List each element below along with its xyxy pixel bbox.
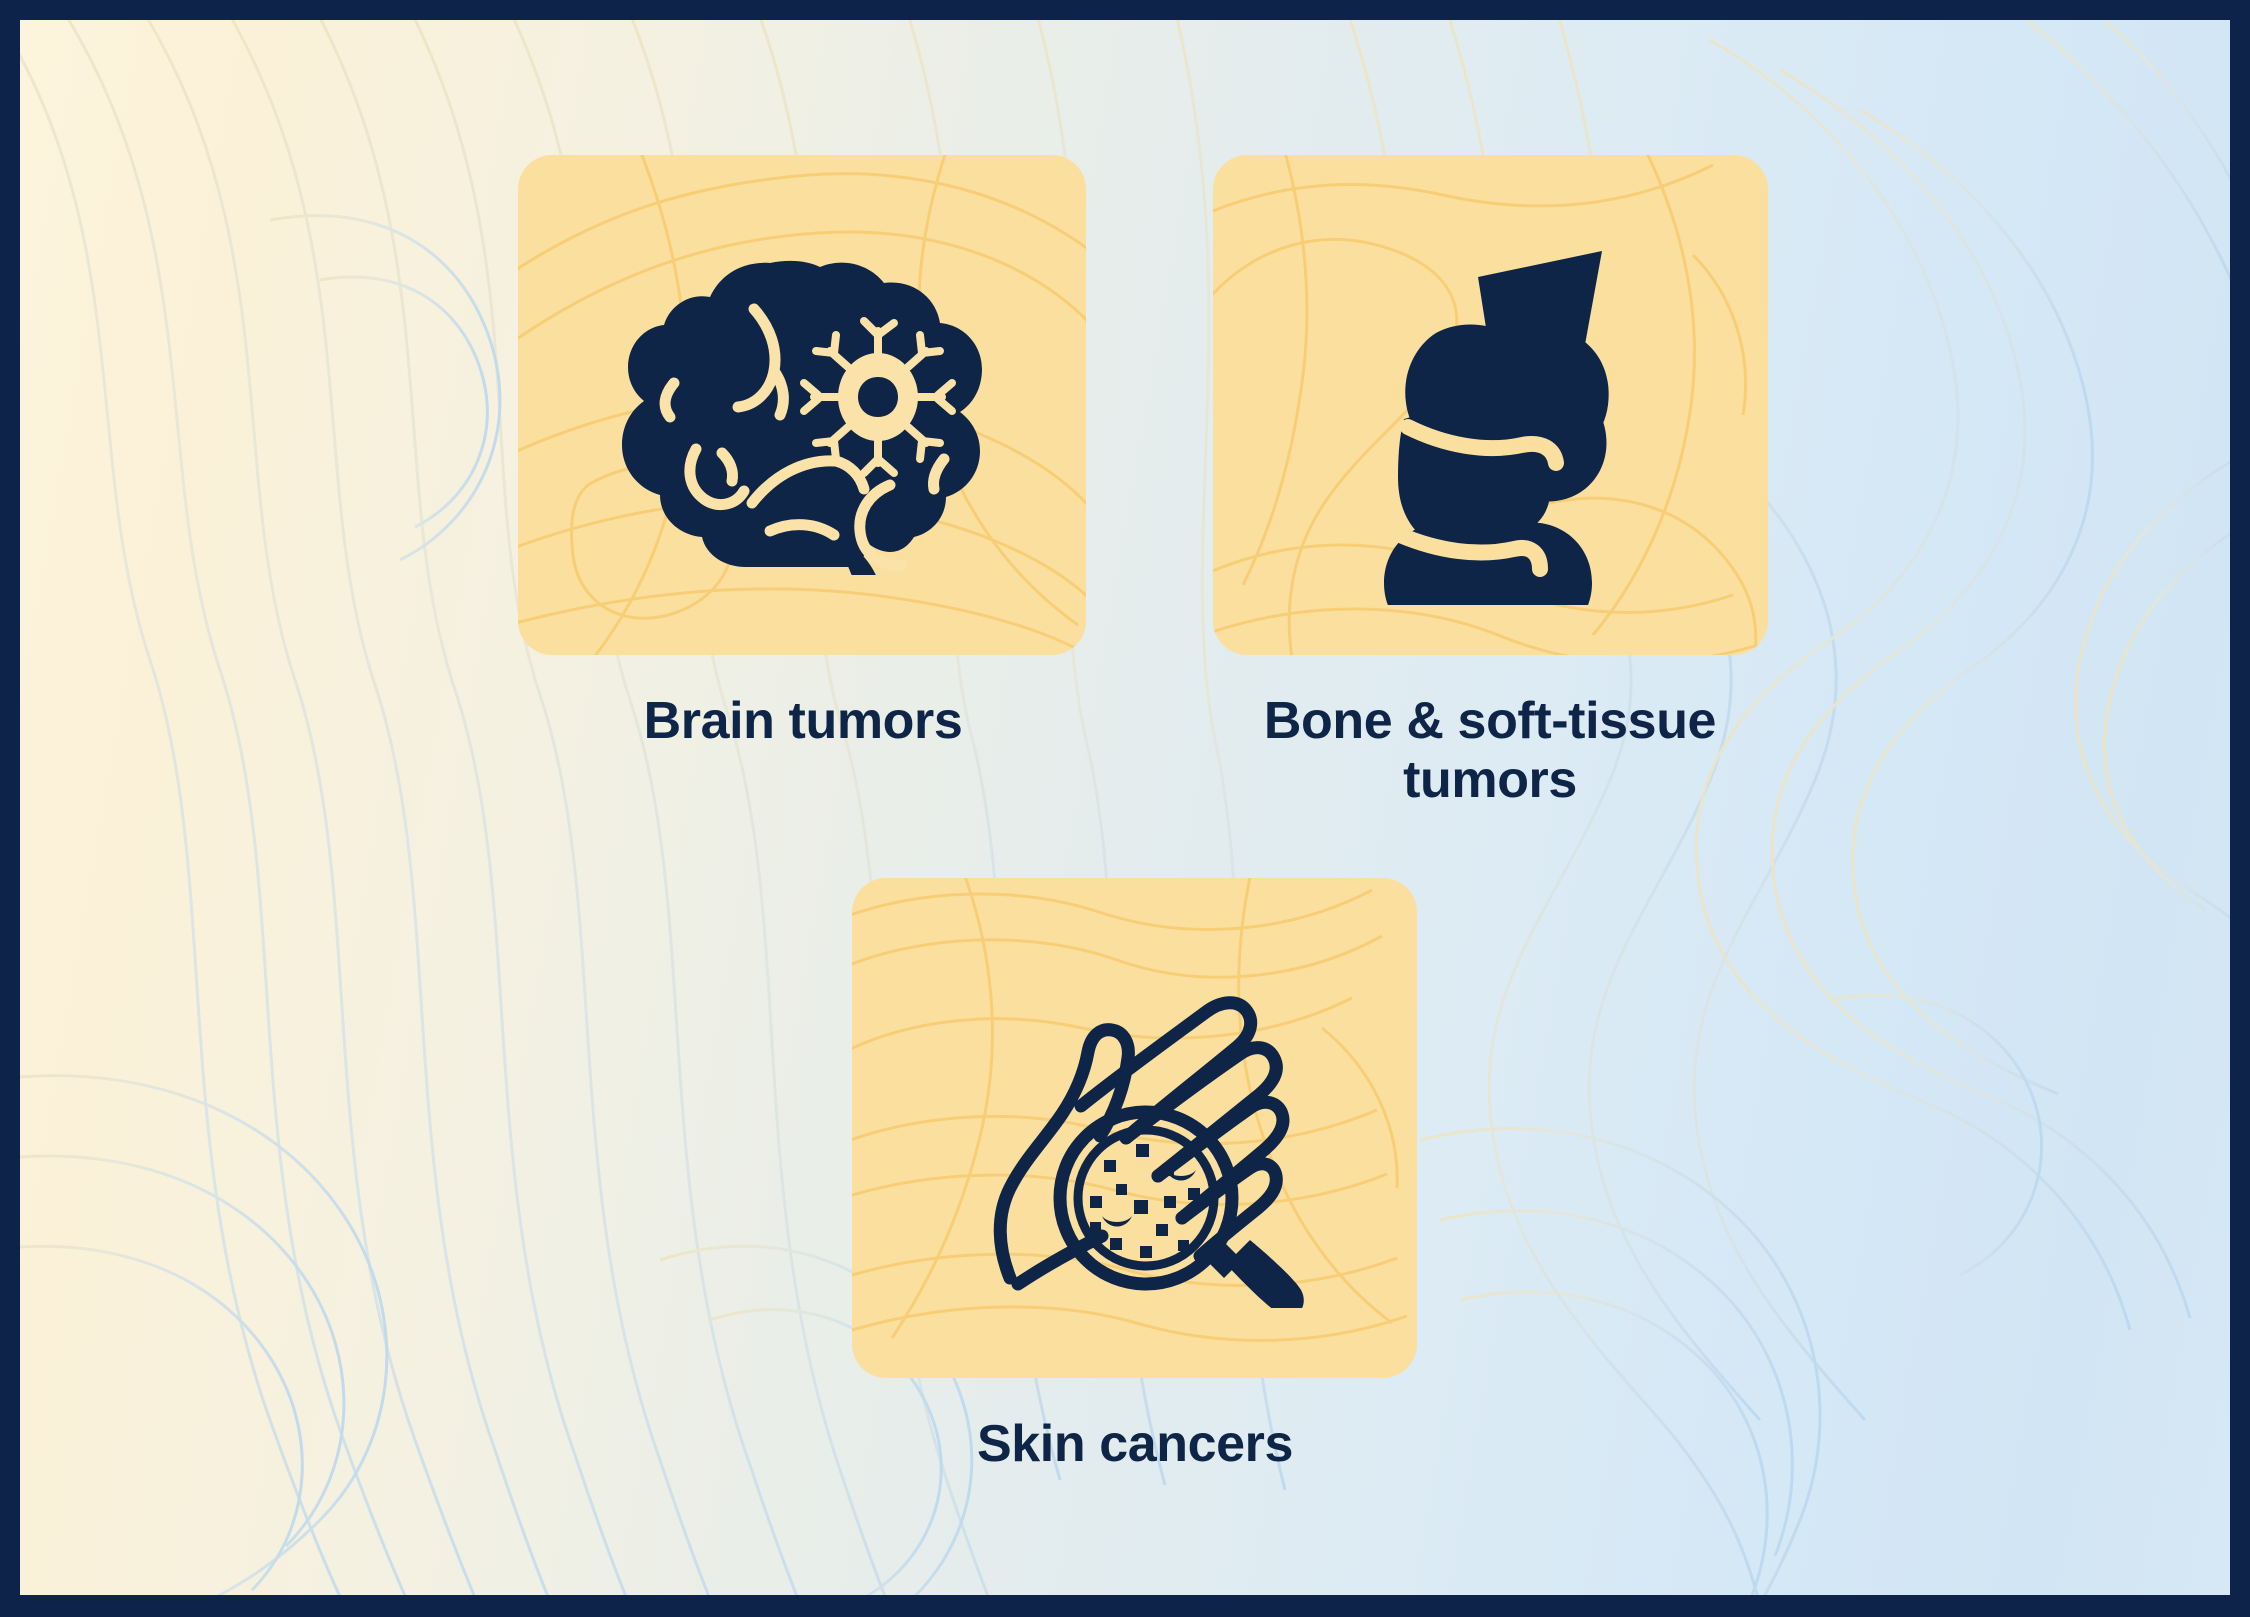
hand-magnifier-skin-icon (950, 948, 1320, 1308)
label-bone-soft-tissue-tumors: Bone & soft-tissue tumors (1125, 692, 1855, 811)
label-line-1: Bone & soft-tissue (1264, 692, 1716, 750)
brain-tumor-icon (602, 235, 1002, 575)
label-line-2: tumors (1403, 751, 1577, 809)
page-frame: Brain tumors Bone & soft-tissue tumors S… (0, 0, 2250, 1617)
content-canvas: Brain tumors Bone & soft-tissue tumors S… (20, 20, 2230, 1595)
label-brain-tumors: Brain tumors (398, 692, 1208, 751)
label-skin-cancers: Skin cancers (765, 1415, 1505, 1474)
card-brain-tumors[interactable] (518, 155, 1086, 655)
knee-joint-bone-icon (1326, 205, 1656, 605)
card-bone-soft-tissue-tumors[interactable] (1213, 155, 1768, 655)
card-skin-cancers[interactable] (852, 878, 1417, 1378)
